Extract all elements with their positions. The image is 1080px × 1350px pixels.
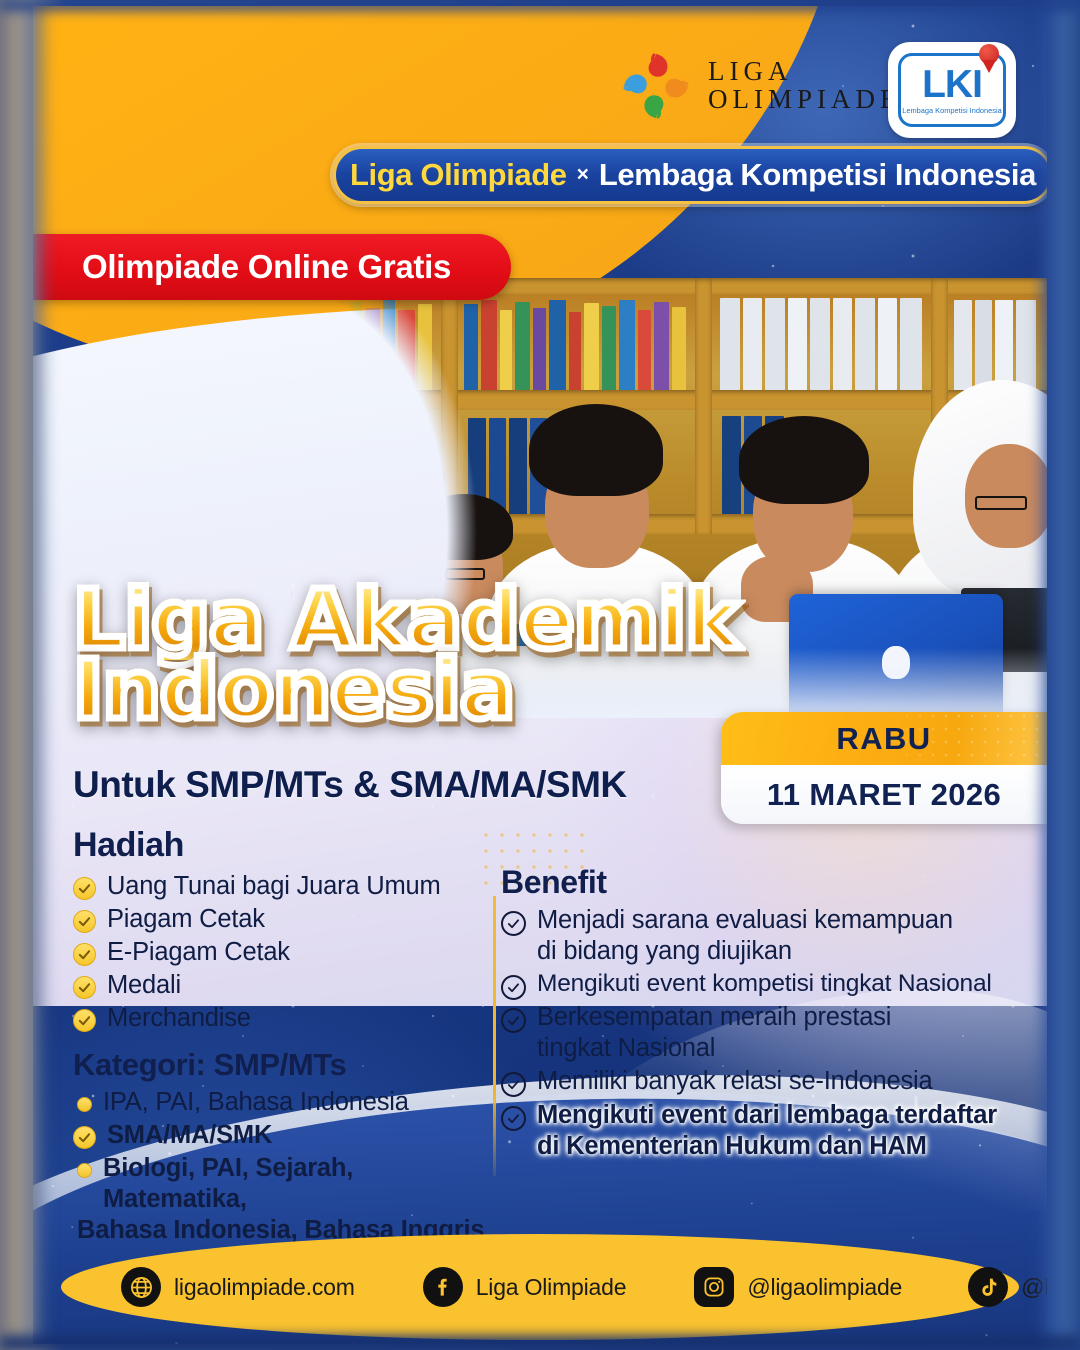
benefit-item-line1: Berkesempatan meraih prestasi [537, 1002, 891, 1033]
audience-subtitle: Untuk SMP/MTs & SMA/MA/SMK [73, 764, 627, 806]
title-line-2: Indonesia [73, 652, 739, 730]
bullet-dot-icon [77, 1163, 92, 1178]
poster-root: LIGA OLIMPIADE LKI Lembaga Kompetisi Ind… [0, 0, 1080, 1350]
kategori-sma-subjects-1: Biologi, PAI, Sejarah, Matematika, [103, 1153, 503, 1215]
list-item: IPA, PAI, Bahasa Indonesia [73, 1087, 503, 1118]
hadiah-item-label: Medali [107, 970, 181, 1001]
ribbon-label: Olimpiade Online Gratis [82, 248, 451, 286]
date-badge-day: RABU [721, 712, 1047, 765]
footer-facebook[interactable]: Liga Olimpiade [423, 1267, 627, 1307]
tiktok-icon [968, 1267, 1008, 1307]
pill-brand: Liga Olimpiade [350, 157, 567, 193]
blue-laptop [789, 594, 1003, 718]
date-value-label: 11 MARET 2026 [767, 777, 1001, 813]
kategori-heading: Kategori: SMP/MTs [73, 1047, 503, 1083]
main-title: Liga Akademik Indonesia [73, 582, 739, 730]
list-item: Mengikuti event dari lembaga terdaftar d… [501, 1100, 1047, 1162]
check-circle-outline-icon [501, 1106, 526, 1131]
logo-row: LIGA OLIMPIADE LKI Lembaga Kompetisi Ind… [33, 40, 1047, 144]
kategori-sma-heading: SMA/MA/SMK [107, 1120, 272, 1151]
list-item: Uang Tunai bagi Juara Umum [73, 871, 503, 902]
footer-website-label: ligaolimpiade.com [174, 1274, 355, 1301]
check-circle-icon [73, 1009, 96, 1032]
right-edge-blur [1044, 0, 1080, 1350]
poster-canvas: LIGA OLIMPIADE LKI Lembaga Kompetisi Ind… [33, 6, 1047, 1344]
lki-medal-icon [979, 44, 999, 64]
facebook-icon [423, 1267, 463, 1307]
check-circle-icon [73, 943, 96, 966]
kategori-list: IPA, PAI, Bahasa Indonesia SMA/MA/SMK Bi… [73, 1087, 503, 1247]
benefit-item-line1: Mengikuti event dari lembaga terdaftar [537, 1100, 997, 1131]
pill-separator-icon: × [577, 163, 589, 187]
liga-olimpiade-flame-mark-icon [618, 48, 694, 124]
lki-logo-main: LKI [922, 65, 982, 104]
footer-website[interactable]: ligaolimpiade.com [121, 1267, 355, 1307]
check-circle-icon [73, 1126, 96, 1149]
bottom-edge-blur [0, 1336, 1080, 1350]
hadiah-item-label: Merchandise [107, 1003, 251, 1034]
benefit-item-line2: di Kementerian Hukum dan HAM [537, 1131, 997, 1162]
lki-logo-sub: Lembaga Kompetisi Indonesia [902, 106, 1001, 115]
date-badge-date: 11 MARET 2026 [721, 765, 1047, 824]
kategori-smp-subjects: IPA, PAI, Bahasa Indonesia [103, 1087, 409, 1118]
instagram-icon [694, 1267, 734, 1307]
right-column: Benefit Menjadi sarana evaluasi kemampua… [501, 864, 1047, 1164]
list-item: Medali [73, 970, 503, 1001]
list-item: Mengikuti event kompetisi tingkat Nasion… [501, 969, 1047, 1000]
footer-instagram[interactable]: @ligaolimpiade [694, 1267, 902, 1307]
footer-contact-bar: ligaolimpiade.com Liga Olimpiade [61, 1234, 1019, 1340]
benefit-item-line1: Memiliki banyak relasi se-Indonesia [537, 1066, 933, 1097]
list-item: Piagam Cetak [73, 904, 503, 935]
benefit-item-line1: Mengikuti event kompetisi tingkat Nasion… [537, 969, 992, 999]
list-item: SMA/MA/SMK [73, 1120, 503, 1151]
top-edge-blur [0, 0, 1080, 10]
benefit-item-line2: tingkat Nasional [537, 1033, 891, 1064]
footer-tiktok-label: @ligaolimpiade [1021, 1274, 1047, 1301]
hadiah-item-label: Piagam Cetak [107, 904, 265, 935]
liga-olimpiade-logo: LIGA OLIMPIADE [618, 48, 902, 124]
benefit-item-line1: Menjadi sarana evaluasi kemampuan [537, 905, 953, 936]
check-circle-icon [73, 877, 96, 900]
footer-tiktok[interactable]: @ligaolimpiade [968, 1267, 1047, 1307]
list-item: Biologi, PAI, Sejarah, Matematika, Bahas… [73, 1153, 503, 1246]
check-circle-icon [73, 976, 96, 999]
globe-icon [121, 1267, 161, 1307]
pill-partner: Lembaga Kompetisi Indonesia [599, 157, 1036, 193]
list-item: Berkesempatan meraih prestasi tingkat Na… [501, 1002, 1047, 1064]
partner-pill: Liga Olimpiade × Lembaga Kompetisi Indon… [333, 146, 1047, 204]
check-circle-outline-icon [501, 1008, 526, 1033]
hadiah-list: Uang Tunai bagi Juara Umum Piagam Cetak … [73, 871, 503, 1035]
footer-facebook-label: Liga Olimpiade [476, 1274, 627, 1301]
hadiah-heading: Hadiah [73, 826, 503, 865]
liga-logo-line2: OLIMPIADE [708, 86, 902, 114]
footer-instagram-label: @ligaolimpiade [747, 1274, 902, 1301]
lki-logo: LKI Lembaga Kompetisi Indonesia [888, 42, 1016, 138]
date-badge: RABU 11 MARET 2026 [721, 712, 1047, 824]
bullet-dot-icon [77, 1097, 92, 1112]
check-circle-icon [73, 910, 96, 933]
hadiah-item-label: E-Piagam Cetak [107, 937, 290, 968]
left-column: Hadiah Uang Tunai bagi Juara Umum Piagam… [73, 826, 503, 1248]
liga-logo-line1: LIGA [708, 58, 902, 86]
check-circle-outline-icon [501, 975, 526, 1000]
benefit-list: Menjadi sarana evaluasi kemampuan di bid… [501, 905, 1047, 1162]
list-item: E-Piagam Cetak [73, 937, 503, 968]
check-circle-outline-icon [501, 1072, 526, 1097]
benefit-item-line2: di bidang yang diujikan [537, 936, 953, 967]
date-day-label: RABU [836, 721, 931, 757]
list-item: Merchandise [73, 1003, 503, 1034]
benefit-heading: Benefit [501, 864, 1047, 901]
list-item: Memiliki banyak relasi se-Indonesia [501, 1066, 1047, 1097]
free-olympiad-ribbon: Olimpiade Online Gratis [33, 234, 511, 300]
hadiah-item-label: Uang Tunai bagi Juara Umum [107, 871, 441, 902]
check-circle-outline-icon [501, 911, 526, 936]
list-item: Menjadi sarana evaluasi kemampuan di bid… [501, 905, 1047, 967]
